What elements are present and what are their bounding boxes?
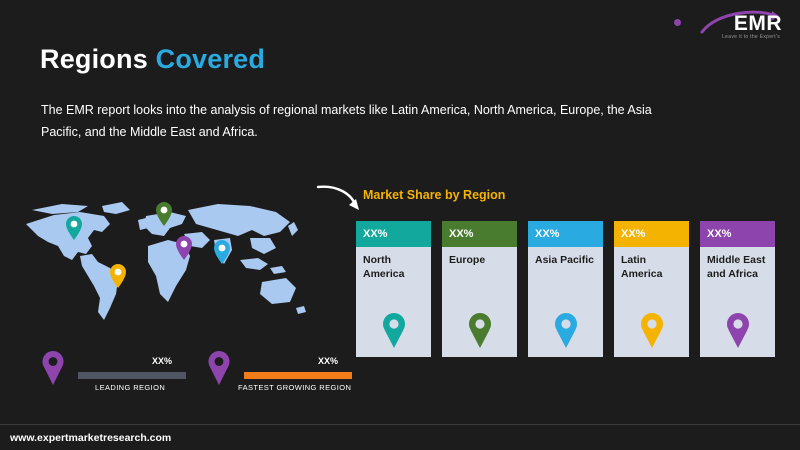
- world-map: [18, 190, 318, 340]
- region-card-north-america[interactable]: XX% North America: [356, 221, 431, 357]
- legend: XX% LEADING REGION XX% FASTEST GROWING R…: [40, 350, 330, 410]
- region-card-percent-bar: XX%: [614, 221, 689, 247]
- legend-pin-icon: [206, 350, 232, 391]
- legend-pin-icon: [40, 350, 66, 391]
- region-card-pin-icon: [442, 311, 517, 349]
- legend-bar: [244, 372, 352, 379]
- legend-percent: XX%: [318, 356, 338, 366]
- legend-bar: [78, 372, 186, 379]
- footer-divider: [0, 424, 800, 425]
- region-card-percent-bar: XX%: [700, 221, 775, 247]
- region-card-percent: XX%: [707, 228, 731, 240]
- region-card-europe[interactable]: XX% Europe: [442, 221, 517, 357]
- legend-percent: XX%: [152, 356, 172, 366]
- region-card-percent-bar: XX%: [528, 221, 603, 247]
- page-title-accent: Covered: [156, 44, 265, 74]
- region-card-pin-icon: [614, 311, 689, 349]
- region-cards: XX% North America XX% Europe: [356, 221, 775, 357]
- region-card-name: Latin America: [614, 247, 689, 281]
- logo-tagline: Leave it to the Expert's: [722, 34, 780, 40]
- world-map-svg: [18, 190, 318, 340]
- region-card-pin-icon: [700, 311, 775, 349]
- region-card-percent-bar: XX%: [442, 221, 517, 247]
- region-card-percent: XX%: [621, 228, 645, 240]
- intro-paragraph: The EMR report looks into the analysis o…: [41, 100, 661, 144]
- legend-label: LEADING REGION: [95, 383, 165, 392]
- region-card-middle-east-and-africa[interactable]: XX% Middle East and Africa: [700, 221, 775, 357]
- emr-logo: EMR Leave it to the Expert's: [672, 10, 782, 48]
- region-card-name: Middle East and Africa: [700, 247, 775, 281]
- region-card-name: Asia Pacific: [528, 247, 603, 268]
- page-title: Regions Covered: [40, 44, 265, 75]
- region-card-name: North America: [356, 247, 431, 281]
- region-card-pin-icon: [356, 311, 431, 349]
- region-card-name: Europe: [442, 247, 517, 268]
- logo-dot-icon: [674, 19, 681, 26]
- curved-arrow-icon: [316, 183, 364, 215]
- region-card-asia-pacific[interactable]: XX% Asia Pacific: [528, 221, 603, 357]
- page-title-main: Regions: [40, 44, 148, 74]
- footer-url: www.expertmarketresearch.com: [10, 432, 171, 444]
- region-card-pin-icon: [528, 311, 603, 349]
- region-card-percent-bar: XX%: [356, 221, 431, 247]
- market-share-heading: Market Share by Region: [363, 188, 505, 202]
- legend-label: FASTEST GROWING REGION: [238, 383, 351, 392]
- region-card-latin-america[interactable]: XX% Latin America: [614, 221, 689, 357]
- region-card-percent: XX%: [363, 228, 387, 240]
- map-pin-asia-pacific: [214, 240, 230, 264]
- slide-root: EMR Leave it to the Expert's Regions Cov…: [0, 0, 800, 450]
- region-card-percent: XX%: [449, 228, 473, 240]
- region-card-percent: XX%: [535, 228, 559, 240]
- logo-text: EMR: [734, 12, 782, 36]
